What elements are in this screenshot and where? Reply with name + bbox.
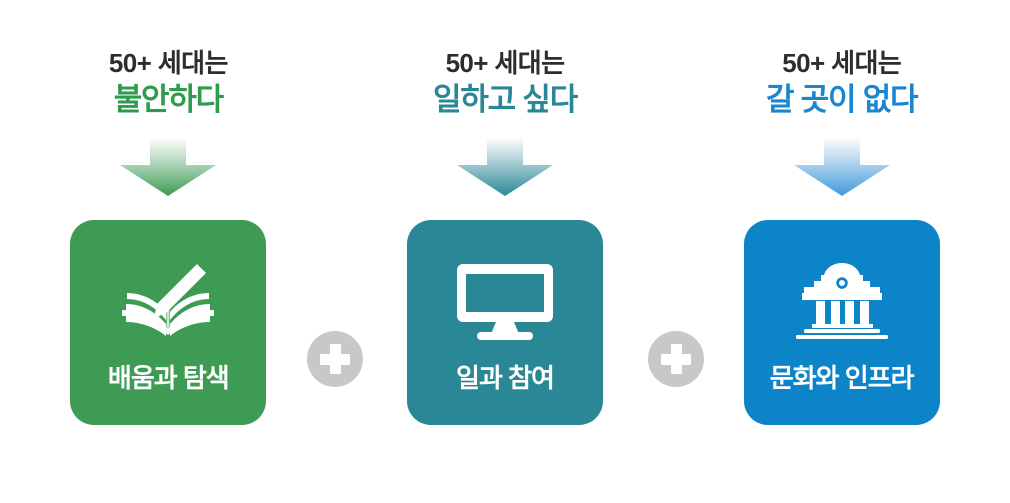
- headline-bottom-text: 갈 곳이 없다: [766, 82, 917, 119]
- headline-bottom-text: 불안하다: [109, 82, 228, 119]
- open-book-pencil-icon: [113, 258, 223, 344]
- infographic-root: 50+ 세대는 불안하다: [0, 0, 1010, 503]
- plus-icon-connector-2: [648, 331, 704, 387]
- down-arrow-culture: [787, 136, 897, 198]
- card-learning[interactable]: 배움과 탐색: [70, 220, 266, 425]
- down-arrow-learning: [113, 136, 223, 198]
- card-label-work: 일과 참여: [456, 358, 554, 395]
- column-container: 50+ 세대는 불안하다: [0, 0, 1010, 503]
- column-learning: 50+ 세대는 불안하다: [0, 0, 337, 503]
- plus-icon-connector-1: [307, 331, 363, 387]
- headline-bottom-text: 일하고 싶다: [433, 82, 577, 119]
- headline-top-text: 50+ 세대는: [433, 48, 577, 79]
- plus-icon-vertical: [330, 344, 341, 374]
- down-arrow-work: [450, 136, 560, 198]
- headline-top-text: 50+ 세대는: [109, 48, 228, 79]
- column-work: 50+ 세대는 일하고 싶다: [337, 0, 674, 503]
- desktop-monitor-icon: [450, 258, 560, 344]
- headline-work: 50+ 세대는 일하고 싶다: [433, 48, 577, 118]
- classical-building-icon: [787, 258, 897, 344]
- headline-top-text: 50+ 세대는: [766, 48, 917, 79]
- column-culture: 50+ 세대는 갈 곳이 없다: [673, 0, 1010, 503]
- plus-icon-vertical: [671, 344, 682, 374]
- card-work[interactable]: 일과 참여: [407, 220, 603, 425]
- headline-learning: 50+ 세대는 불안하다: [109, 48, 228, 118]
- card-label-culture: 문화와 인프라: [770, 358, 914, 395]
- headline-culture: 50+ 세대는 갈 곳이 없다: [766, 48, 917, 118]
- card-culture[interactable]: 문화와 인프라: [744, 220, 940, 425]
- card-label-learning: 배움과 탐색: [108, 358, 229, 395]
